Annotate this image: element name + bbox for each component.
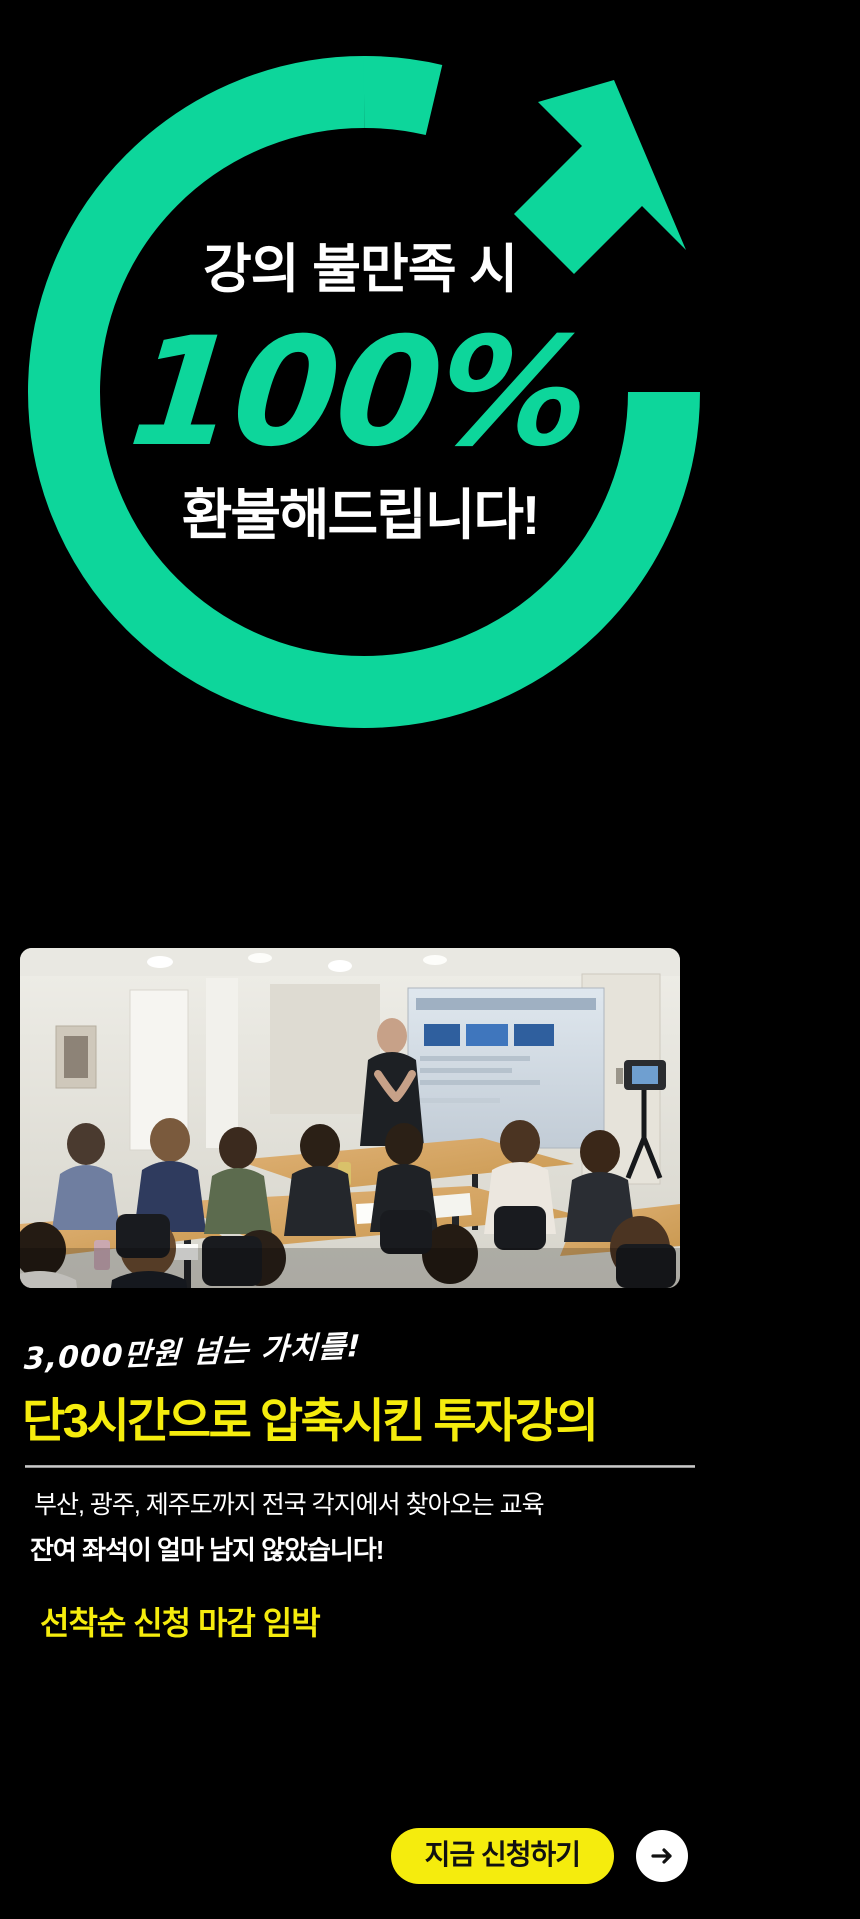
urgency-notice: 선착순 신청 마감 임박 [40,1604,720,1642]
main-headline: 단3시간으로 압축시킨 투자강의 [22,1396,720,1445]
apply-now-button[interactable]: 지금 신청하기 [391,1828,614,1884]
subheadline-nationwide: 부산, 광주, 제주도까지 전국 각지에서 찾아오는 교육 [34,1490,720,1521]
promo-landing-page: 강의 불만족 시 100% 환불해드립니다! [0,0,860,1919]
subheadline-seats-remaining: 잔여 좌석이 얼마 남지 않았습니다! [30,1534,720,1567]
promo-copy-section: 3,000만원 넘는 가치를! 단3시간으로 압축시킨 투자강의 부산, 광주,… [0,1300,720,1642]
arrow-right-icon[interactable] [636,1830,688,1882]
cta-row: 지금 신청하기 [0,1828,720,1884]
classroom-photo [20,948,680,1288]
refresh-circular-arrow-icon [14,42,714,742]
hero-refund-guarantee-section: 강의 불만족 시 100% 환불해드립니다! [0,0,860,880]
section-divider [25,1465,695,1468]
